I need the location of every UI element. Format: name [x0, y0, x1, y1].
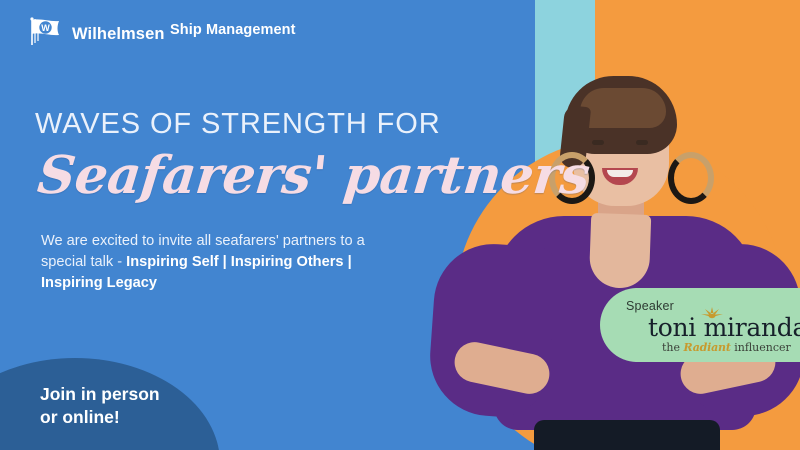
- speaker-tagline-accent: Radiant: [684, 341, 731, 354]
- speaker-label: Speaker: [626, 299, 674, 313]
- event-description: We are excited to invite all seafarers' …: [41, 231, 391, 294]
- portrait-neckline: [589, 213, 652, 289]
- page-title: WAVES OF STRENGTH FOR: [35, 108, 441, 141]
- join-callout-line1: Join in person: [40, 383, 160, 406]
- portrait-earring-right: [668, 152, 714, 204]
- svg-text:W: W: [41, 23, 50, 33]
- speaker-tagline-after: influencer: [731, 341, 791, 354]
- brand-name: Wilhelmsen: [72, 25, 165, 44]
- gold-sunburst-icon: [698, 307, 726, 321]
- join-callout: Join in person or online!: [40, 383, 160, 429]
- speaker-tagline: the Radiant influencer: [662, 341, 791, 354]
- script-subtitle: Seafarers' partners: [35, 145, 593, 206]
- wilhelmsen-flag-icon: W: [28, 17, 62, 52]
- portrait-hair-fringe: [580, 88, 666, 128]
- promo-poster: W Wilhelmsen Ship Management WAVES OF ST…: [0, 0, 800, 450]
- speaker-portrait-photo: [430, 48, 800, 450]
- join-callout-line2: or online!: [40, 406, 160, 429]
- portrait-skirt: [534, 420, 720, 450]
- speaker-tagline-before: the: [662, 341, 684, 354]
- business-unit-name: Ship Management: [170, 22, 296, 38]
- brand-header: W Wilhelmsen: [28, 17, 165, 52]
- portrait-eye-right: [636, 140, 648, 145]
- portrait-eye-left: [592, 140, 604, 145]
- speaker-badge: Speaker toni miranda the Radiant influen…: [600, 288, 800, 362]
- portrait-sleeve-left: [426, 240, 558, 420]
